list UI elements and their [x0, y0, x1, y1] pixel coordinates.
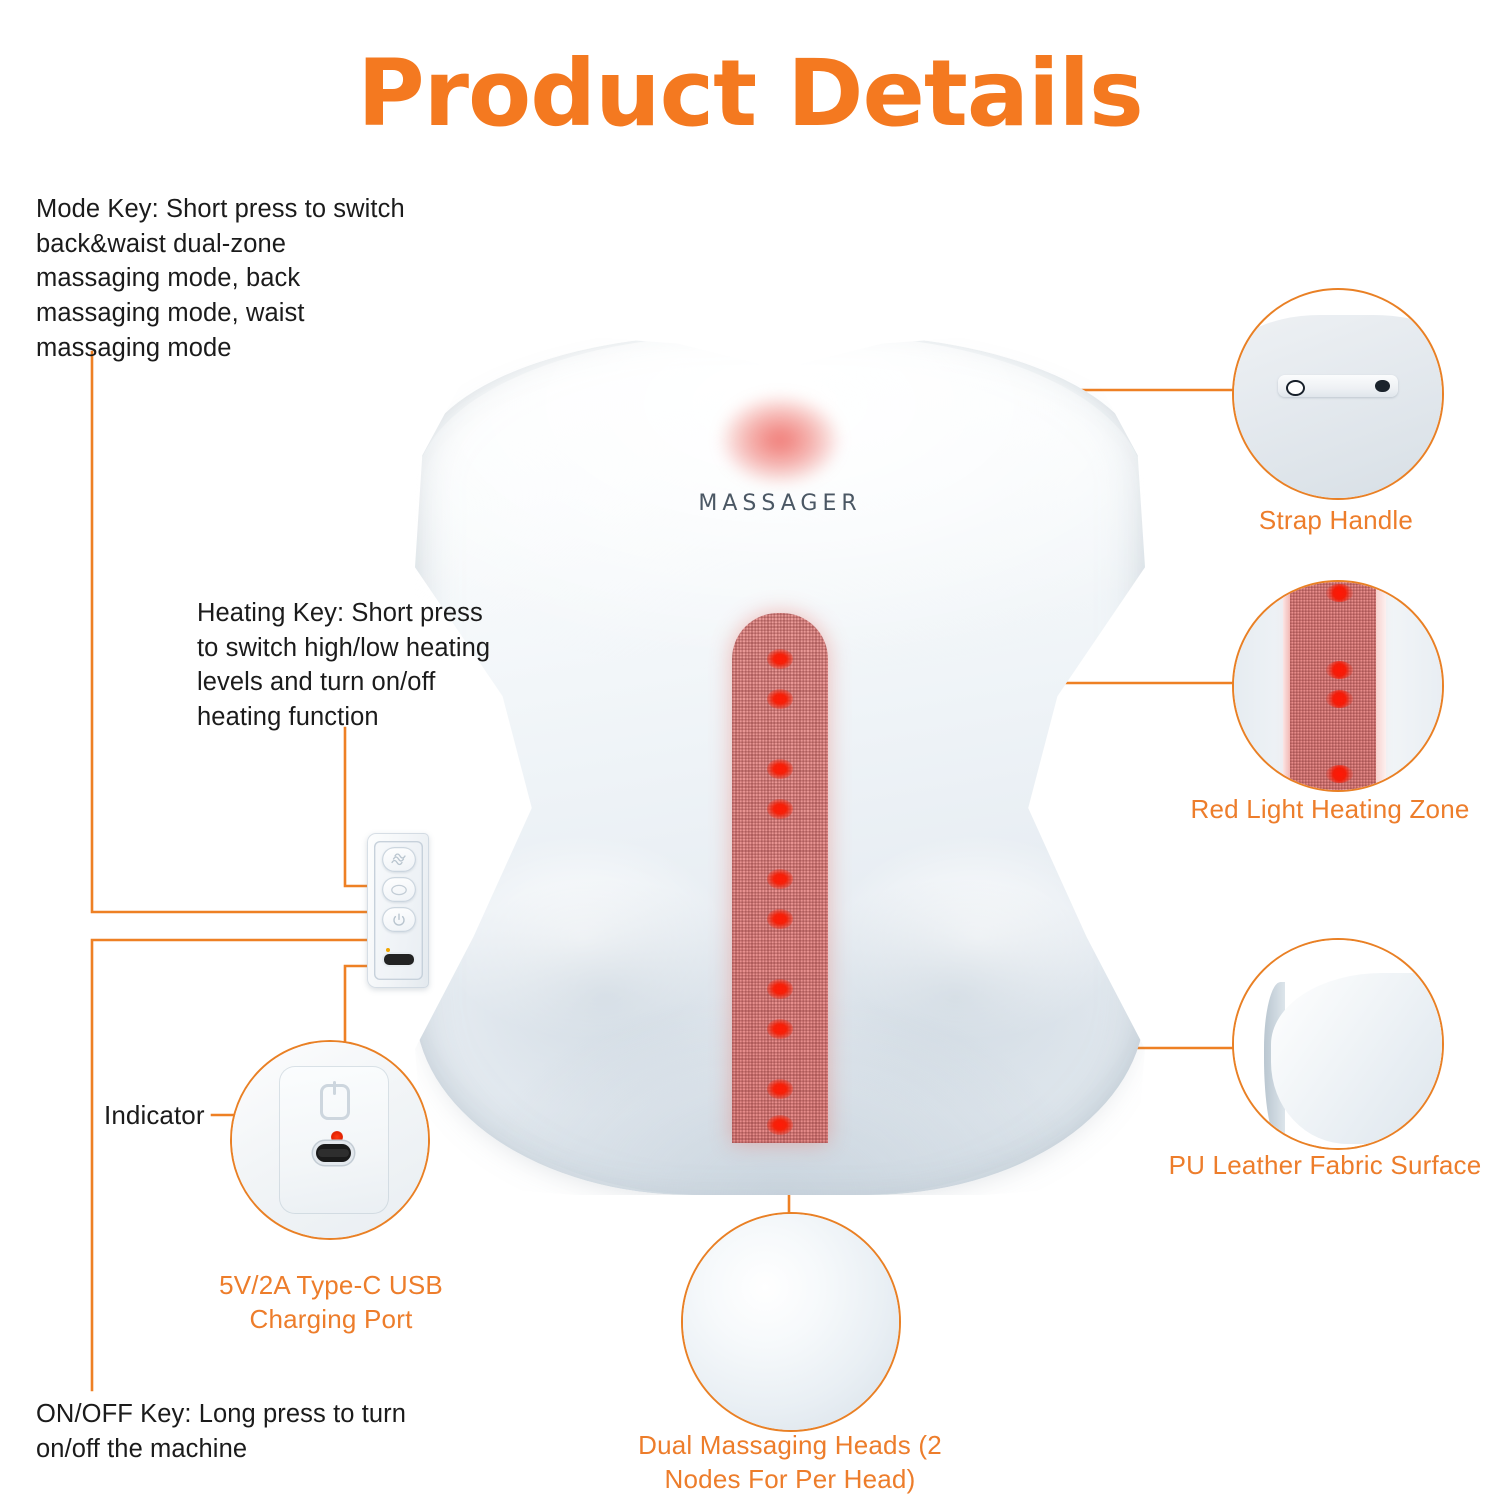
- strap-handle-bar: [1278, 375, 1399, 397]
- control-panel: [367, 833, 429, 988]
- strap-handle-closeup: [1232, 288, 1444, 500]
- power-key-button[interactable]: [382, 907, 416, 932]
- heating-key-annotation: Heating Key: Short press to switch high/…: [197, 596, 509, 735]
- power-symbol-icon: [320, 1084, 350, 1120]
- strap-handle-caption: Strap Handle: [1186, 503, 1486, 537]
- mode-key-button[interactable]: [382, 847, 416, 872]
- red-light-glow: [722, 397, 838, 483]
- heating-strip-fabric: [1290, 580, 1377, 792]
- indicator-label: Indicator: [104, 1098, 234, 1133]
- charging-port-plate: [279, 1066, 389, 1215]
- charging-port-closeup: [230, 1040, 430, 1240]
- massage-node-sphere: [683, 1214, 899, 1430]
- red-light-heating-zone-closeup: [1232, 580, 1444, 792]
- strap-hole-left-icon: [1286, 380, 1304, 396]
- dual-heads-caption: Dual Massaging Heads (2 Nodes For Per He…: [620, 1428, 960, 1497]
- charging-port-caption: 5V/2A Type-C USB Charging Port: [186, 1268, 476, 1337]
- page-title: Product Details: [0, 46, 1500, 143]
- massager-device: MASSAGER: [415, 335, 1145, 1195]
- infographic-canvas: Product Details: [0, 0, 1500, 1500]
- red-light-heating-strip: [732, 613, 828, 1143]
- pu-leather-closeup: [1232, 938, 1444, 1150]
- mode-key-annotation: Mode Key: Short press to switch back&wai…: [36, 192, 416, 365]
- indicator-led: [331, 1131, 343, 1143]
- on-off-key-annotation: ON/OFF Key: Long press to turn on/off th…: [36, 1397, 436, 1466]
- strap-handle-surface: [1232, 315, 1444, 500]
- pu-leather-caption: PU Leather Fabric Surface: [1150, 1148, 1500, 1182]
- usb-c-port-icon: [316, 1144, 351, 1162]
- dual-heads-closeup: [681, 1212, 901, 1432]
- power-icon: [392, 913, 406, 927]
- panel-indicator-led: [386, 948, 390, 952]
- strap-hole-right-icon: [1375, 380, 1389, 393]
- wave-icon: [390, 853, 408, 866]
- red-light-heating-zone-caption: Red Light Heating Zone: [1160, 792, 1500, 826]
- heating-key-button[interactable]: [382, 877, 416, 902]
- pu-leather-surface: [1271, 973, 1444, 1144]
- usb-c-port-device[interactable]: [384, 954, 414, 965]
- brand-label: MASSAGER: [415, 491, 1145, 516]
- blank-oval-icon: [391, 884, 408, 896]
